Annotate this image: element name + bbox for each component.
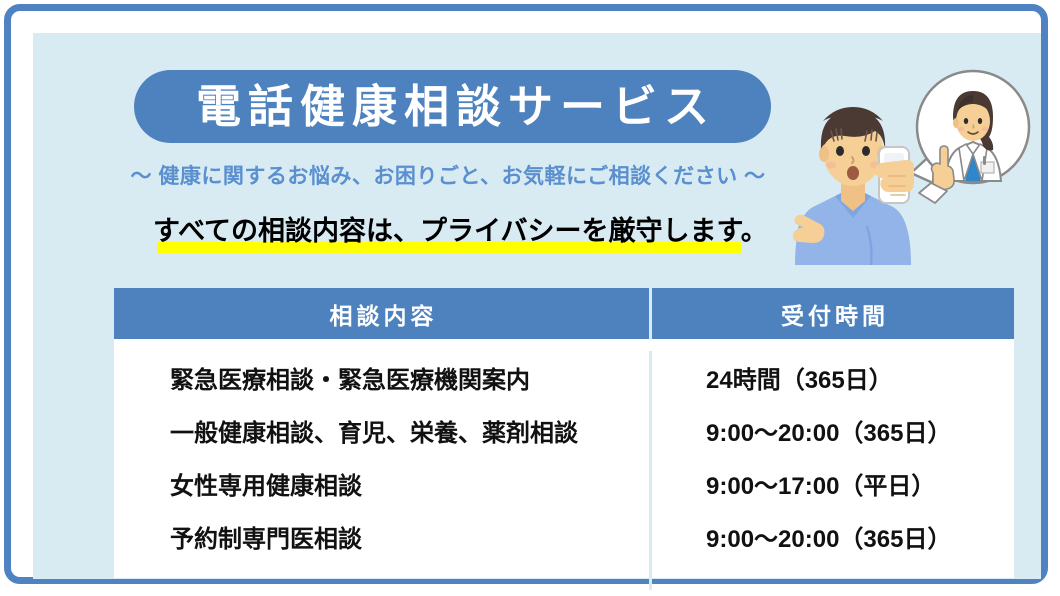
table-row: 一般健康相談、育児、栄養、薬剤相談 9:00〜20:00（365日） (114, 404, 1014, 457)
man-on-phone-icon (793, 107, 914, 265)
cell-hours: 24時間（365日） (649, 351, 1014, 404)
table-row: 緊急医療相談・緊急医療機関案内 24時間（365日） (114, 351, 1014, 404)
cell-hours: 9:00〜17:00（平日） (649, 457, 1014, 510)
title-pill: 電話健康相談サービス (134, 70, 771, 143)
cell-topic: 女性専用健康相談 (114, 457, 649, 510)
page-title: 電話健康相談サービス (189, 84, 716, 129)
health-consultation-banner: 電話健康相談サービス 〜 健康に関するお悩み、お困りごと、お気軽にご相談ください… (0, 0, 1060, 596)
table-row: 予約制専門医相談 9:00〜20:00（365日） (114, 510, 1014, 563)
illustration (783, 55, 1060, 265)
privacy-note-wrap: すべての相談内容は、プライバシーを厳守します。 (153, 214, 745, 256)
body-column-divider (649, 351, 652, 590)
table-row: 女性専用健康相談 9:00〜17:00（平日） (114, 457, 1014, 510)
cell-topic: 一般健康相談、育児、栄養、薬剤相談 (114, 404, 649, 457)
cell-hours: 9:00〜20:00（365日） (649, 404, 1014, 457)
column-header-hours: 受付時間 (652, 288, 1014, 339)
table-body: 緊急医療相談・緊急医療機関案内 24時間（365日） 一般健康相談、育児、栄養、… (114, 351, 1014, 590)
consultation-table: 相談内容 受付時間 緊急医療相談・緊急医療機関案内 24時間（365日） 一般健… (114, 288, 1014, 578)
subtitle: 〜 健康に関するお悩み、お困りごと、お気軽にご相談ください 〜 (125, 160, 771, 190)
privacy-note: すべての相談内容は、プライバシーを厳守します。 (153, 214, 745, 248)
table-header-row: 相談内容 受付時間 (114, 288, 1014, 339)
banner-panel: 電話健康相談サービス 〜 健康に関するお悩み、お困りごと、お気軽にご相談ください… (33, 33, 1041, 579)
banner-frame: 電話健康相談サービス 〜 健康に関するお悩み、お困りごと、お気軽にご相談ください… (4, 4, 1048, 584)
column-header-topic: 相談内容 (114, 288, 649, 339)
cell-topic: 緊急医療相談・緊急医療機関案内 (114, 351, 649, 404)
cell-topic: 予約制専門医相談 (114, 510, 649, 563)
cell-hours: 9:00〜20:00（365日） (649, 510, 1014, 563)
